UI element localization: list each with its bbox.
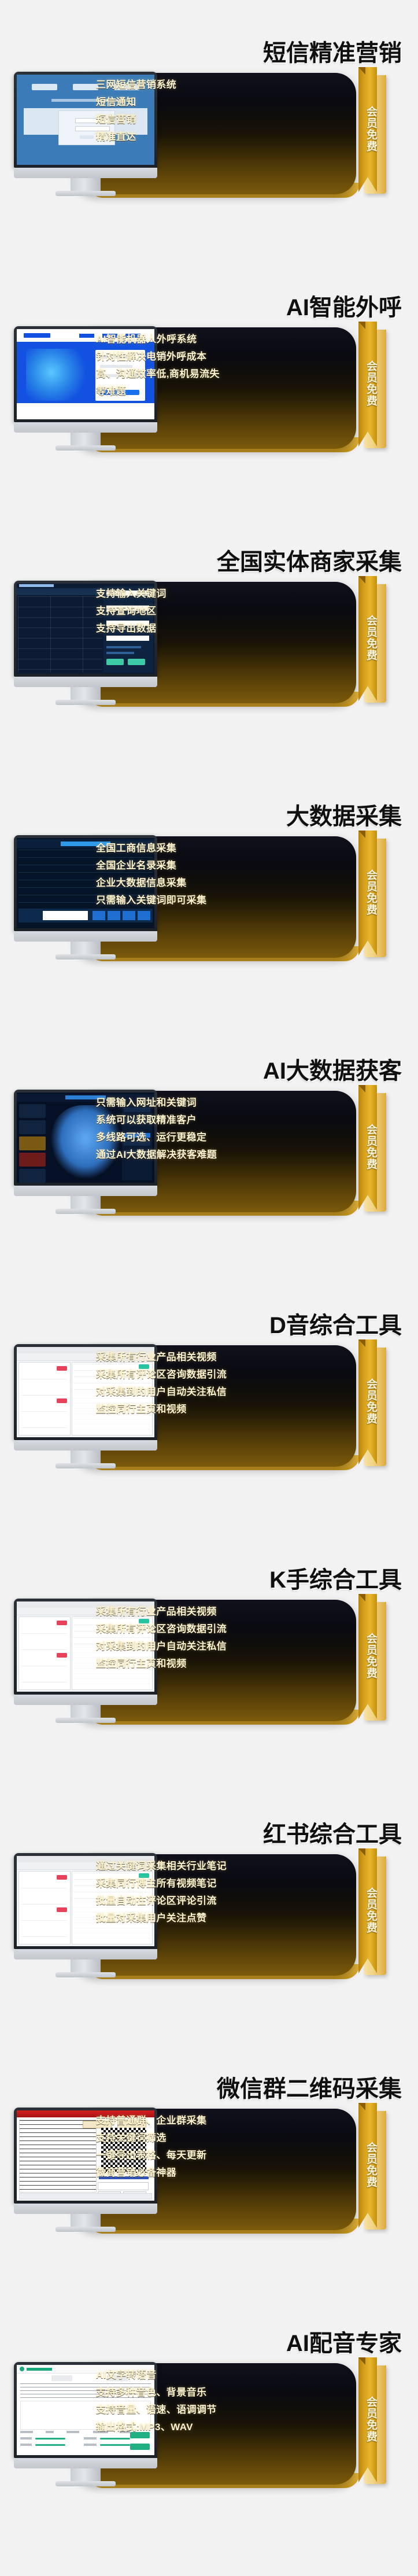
promo-card[interactable]: AI大数据获客 只需输入网址和关键词 系统可以获取精准客户 多线路可选、运行更稳…: [0, 1029, 418, 1261]
feature-item: 一键导出表格、每天更新: [96, 2150, 345, 2160]
feature-item: 精准直达: [96, 132, 345, 142]
feature-item: 输出格式:MP3、WAV: [96, 2422, 345, 2432]
member-free-ribbon[interactable]: 会员免费: [358, 1085, 386, 1215]
feature-item: AI文字转语音: [96, 2370, 345, 2380]
card-title: 微信群二维码采集: [162, 2074, 402, 2104]
promo-card[interactable]: AI配音专家 AI文字转语音 支持多种音色、背景音乐 支持音量、语速、语调调节 …: [0, 2302, 418, 2533]
monitor-chin: [14, 2458, 157, 2468]
promo-card-list: 短信精准营销 三网短信营销系统 短信通知 短信营销 精准直达: [0, 0, 418, 2576]
monitor-base: [56, 191, 116, 196]
monitor-chin: [14, 1440, 157, 1451]
feature-item: 多线路可选、运行更稳定: [96, 1132, 345, 1142]
monitor-neck: [71, 1196, 101, 1210]
ribbon-label: 会员免费: [358, 74, 377, 184]
monitor-neck: [71, 687, 101, 701]
monitor-base: [56, 1972, 116, 1977]
feature-item: 支持普通群、企业群采集: [96, 2116, 345, 2125]
ribbon-label: 会员免费: [358, 2110, 377, 2220]
feature-item: 批量自动在评论区评论引流: [96, 1896, 345, 1906]
feature-item: 针对性解决电销外呼成本: [96, 352, 345, 361]
feature-item: 微商营销必备神器: [96, 2168, 345, 2178]
monitor-base: [56, 1718, 116, 1723]
feature-item: 支持查询地区: [96, 606, 345, 616]
feature-item: 批量对采集用户关注点赞: [96, 1913, 345, 1923]
monitor-chin: [14, 1186, 157, 1196]
member-free-ribbon[interactable]: 会员免费: [358, 2357, 386, 2487]
feature-list: 支持输入关键词 支持查询地区 支持导出数据: [96, 589, 345, 633]
feature-list: 通过关键词采集相关行业笔记 采集同行博主所有视频笔记 批量自动在评论区评论引流 …: [96, 1861, 345, 1923]
monitor-base: [56, 445, 116, 451]
promo-card[interactable]: 短信精准营销 三网短信营销系统 短信通知 短信营销 精准直达: [0, 12, 418, 243]
feature-item: 短信通知: [96, 97, 345, 107]
feature-item: 采集同行博主所有视频笔记: [96, 1879, 345, 1888]
feature-item: 对采集到的用户自动关注私信: [96, 1387, 345, 1397]
promo-card[interactable]: K手综合工具 采集所有行业产品相关视频 采集所有评论区咨询数据引流 对采集到的用…: [0, 1538, 418, 1770]
member-free-ribbon[interactable]: 会员免费: [358, 576, 386, 706]
feature-item: 采集所有行业产品相关视频: [96, 1607, 345, 1617]
feature-item: 只需输入网址和关键词: [96, 1098, 345, 1108]
monitor-chin: [14, 422, 157, 433]
ribbon-label: 会员免费: [358, 583, 377, 693]
feature-item: 企业大数据信息采集: [96, 878, 345, 888]
feature-list: 采集所有行业产品相关视频 采集所有评论区咨询数据引流 对采集到的用户自动关注私信…: [96, 1607, 345, 1669]
member-free-ribbon[interactable]: 会员免费: [358, 2103, 386, 2232]
promo-card[interactable]: D音综合工具 采集所有行业产品相关视频 采集所有评论区咨询数据引流 对采集到的用…: [0, 1284, 418, 1515]
monitor-base: [56, 2227, 116, 2232]
feature-list: AI文字转语音 支持多种音色、背景音乐 支持音量、语速、语调调节 输出格式:MP…: [96, 2370, 345, 2432]
feature-item: 支持音量、语速、语调调节: [96, 2405, 345, 2415]
monitor-neck: [71, 178, 101, 192]
monitor-chin: [14, 2204, 157, 2214]
ribbon-label: 会员免费: [358, 1346, 377, 1456]
ribbon-label: 会员免费: [358, 1855, 377, 1965]
monitor-chin: [14, 168, 157, 178]
monitor-chin: [14, 1949, 157, 1959]
monitor-chin: [14, 1695, 157, 1705]
card-title: 红书综合工具: [162, 1820, 402, 1850]
feature-item: 采集所有评论区咨询数据引流: [96, 1624, 345, 1634]
feature-item: 支持关键词筛选: [96, 2133, 345, 2143]
member-free-ribbon[interactable]: 会员免费: [358, 1339, 386, 1469]
card-title: 全国实体商家采集: [162, 547, 402, 577]
feature-item: 只需输入关键词即可采集: [96, 895, 345, 905]
ribbon-label: 会员免费: [358, 1601, 377, 1711]
promo-card[interactable]: AI智能外呼 AI智能机器人外呼系统 针对性解决电销外呼成本 高、沟通效率低,商…: [0, 266, 418, 497]
feature-item: 采集所有评论区咨询数据引流: [96, 1370, 345, 1379]
feature-item: 支持导出数据: [96, 623, 345, 633]
feature-list: AI智能机器人外呼系统 针对性解决电销外呼成本 高、沟通效率低,商机易流失 等难…: [96, 334, 345, 396]
monitor-neck: [71, 2214, 101, 2228]
feature-item: 通过关键词采集相关行业笔记: [96, 1861, 345, 1871]
member-free-ribbon[interactable]: 会员免费: [358, 1594, 386, 1724]
feature-item: 支持多种音色、背景音乐: [96, 2387, 345, 2397]
monitor-neck: [71, 942, 101, 955]
monitor-neck: [71, 433, 101, 446]
feature-item: 全国企业名录采集: [96, 861, 345, 870]
feature-list: 采集所有行业产品相关视频 采集所有评论区咨询数据引流 对采集到的用户自动关注私信…: [96, 1352, 345, 1414]
monitor-chin: [14, 931, 157, 942]
feature-item: 监控同行主页和视频: [96, 1404, 345, 1414]
feature-item: AI智能机器人外呼系统: [96, 334, 345, 344]
member-free-ribbon[interactable]: 会员免费: [358, 831, 386, 960]
feature-item: 对采集到的用户自动关注私信: [96, 1641, 345, 1651]
feature-item: 等难题: [96, 386, 345, 396]
monitor-neck: [71, 2468, 101, 2482]
member-free-ribbon[interactable]: 会员免费: [358, 1848, 386, 1978]
feature-item: 高、沟通效率低,商机易流失: [96, 369, 345, 379]
feature-item: 采集所有行业产品相关视频: [96, 1352, 345, 1362]
monitor-base: [56, 1463, 116, 1468]
monitor-base: [56, 2481, 116, 2486]
promo-card[interactable]: 全国实体商家采集 支持输入关键词 支持查询地区 支持导出数据: [0, 521, 418, 752]
feature-list: 支持普通群、企业群采集 支持关键词筛选 一键导出表格、每天更新 微商营销必备神器: [96, 2116, 345, 2178]
monitor-base: [56, 1209, 116, 1214]
feature-item: 支持输入关键词: [96, 589, 345, 599]
monitor-chin: [14, 677, 157, 687]
promo-card[interactable]: 大数据采集 全国工商信息采集 全国企业名录采集 企业大数据信息采集 只需输入关键…: [0, 775, 418, 1006]
member-free-ribbon[interactable]: 会员免费: [358, 322, 386, 451]
monitor-neck: [71, 1451, 101, 1464]
feature-item: 全国工商信息采集: [96, 843, 345, 853]
monitor-neck: [71, 1705, 101, 1719]
card-title: 短信精准营销: [162, 38, 402, 68]
monitor-base: [56, 954, 116, 959]
feature-item: 通过AI大数据解决获客难题: [96, 1150, 345, 1160]
feature-list: 全国工商信息采集 全国企业名录采集 企业大数据信息采集 只需输入关键词即可采集: [96, 843, 345, 905]
feature-list: 三网短信营销系统 短信通知 短信营销 精准直达: [96, 80, 345, 142]
promo-card[interactable]: 红书综合工具 通过关键词采集相关行业笔记 采集同行博主所有视频笔记 批量自动在评…: [0, 1793, 418, 2024]
monitor-neck: [71, 1959, 101, 1973]
ribbon-label: 会员免费: [358, 329, 377, 438]
ribbon-label: 会员免费: [358, 2364, 377, 2474]
promo-card[interactable]: 微信群二维码采集 支持普通群、企业群采集 支持关键词筛选 一键导出表格、每天更新…: [0, 2047, 418, 2279]
card-title: AI智能外呼: [162, 293, 402, 323]
feature-item: 监控同行主页和视频: [96, 1659, 345, 1669]
member-free-ribbon[interactable]: 会员免费: [358, 67, 386, 197]
card-title: 大数据采集: [162, 802, 402, 832]
card-title: AI大数据获客: [162, 1056, 402, 1086]
monitor-base: [56, 700, 116, 705]
card-title: K手综合工具: [162, 1565, 402, 1595]
feature-item: 系统可以获取精准客户: [96, 1115, 345, 1125]
feature-list: 只需输入网址和关键词 系统可以获取精准客户 多线路可选、运行更稳定 通过AI大数…: [96, 1098, 345, 1160]
ribbon-label: 会员免费: [358, 1092, 377, 1202]
ribbon-label: 会员免费: [358, 837, 377, 947]
card-title: AI配音专家: [162, 2328, 402, 2359]
feature-item: 短信营销: [96, 115, 345, 124]
feature-item: 三网短信营销系统: [96, 80, 345, 90]
card-title: D音综合工具: [162, 1311, 402, 1341]
